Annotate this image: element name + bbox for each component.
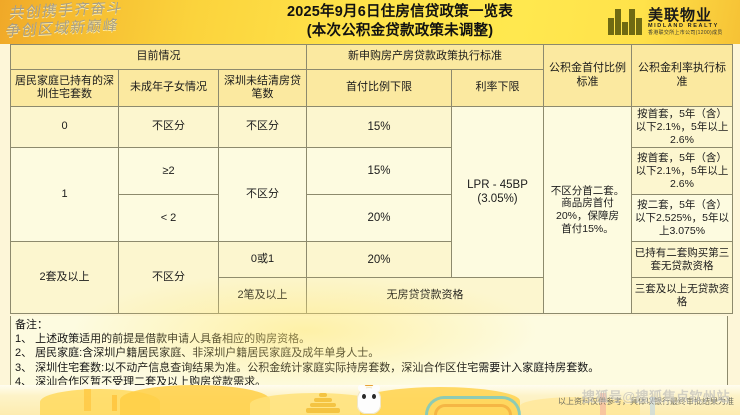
- cell-fund-rate-3: 已持有二套购买第三套无贷款资格: [632, 242, 733, 278]
- header-rate-min: 利率下限: [452, 70, 544, 107]
- logo-name-en: MIDLAND REALTY: [648, 24, 723, 30]
- pagoda-icon: [300, 393, 346, 413]
- title-line-2: (本次公积金贷款政策未调整): [190, 22, 610, 41]
- page-title: 2025年9月6日住房信贷政策一览表 (本次公积金贷款政策未调整): [190, 3, 610, 41]
- header-new-mortgage-policy: 新申购房产房贷款政策执行标准: [307, 45, 544, 70]
- tower-icon: [112, 395, 117, 411]
- header-minor-children: 未成年子女情况: [119, 70, 219, 107]
- logo-mark-icon: [608, 9, 644, 35]
- table-row: 0 不区分 不区分 15% LPR - 45BP (3.05%) 不区分首二套。…: [11, 107, 733, 148]
- cell-houses-owned-1: 1: [11, 148, 119, 242]
- note-item-3: 3、 深圳住宅套数:以不动产信息查询结果为准。公积金统计家庭实际持房套数，深汕合…: [15, 361, 723, 375]
- cell-houses-owned-3: 2套及以上: [11, 242, 119, 314]
- cell-fund-rate-1: 按首套，5年（含）以下2.1%，5年以上2.6%: [632, 148, 733, 195]
- rate-min-line-1: LPR - 45BP: [454, 178, 541, 192]
- cell-houses-owned-0: 0: [11, 107, 119, 148]
- rainbow-arch-icon: [425, 396, 521, 415]
- cell-down-payment-3: 20%: [307, 242, 452, 278]
- midland-realty-logo: 美联物业 MIDLAND REALTY 香港联交所上市公司(1200)成员: [608, 2, 736, 42]
- cell-unsettled-loans-4: 2笔及以上: [219, 278, 307, 314]
- calligraphy-line-2: 争创区域新巅峰: [6, 19, 120, 40]
- cell-minor-children-3: 不区分: [119, 242, 219, 314]
- header-unsettled-loans: 深圳未结清房贷笔数: [219, 70, 307, 107]
- cell-unsettled-loans-3: 0或1: [219, 242, 307, 278]
- cell-rate-min-merged: LPR - 45BP (3.05%): [452, 107, 544, 278]
- tower-icon: [84, 389, 91, 411]
- notes-title: 备注：: [15, 318, 723, 332]
- mascot-eye: [362, 394, 366, 399]
- note-item-2: 2、 居民家庭:含深圳户籍居民家庭、非深圳户籍居民家庭及成年单身人士。: [15, 346, 723, 360]
- fund-dp-line-2: 商品房首付: [546, 197, 629, 210]
- cell-no-loan-eligibility: 无房贷贷款资格: [307, 278, 544, 314]
- logo-name-cn: 美联物业: [648, 8, 723, 24]
- title-line-1: 2025年9月6日住房信贷政策一览表: [190, 3, 610, 22]
- cell-minor-children-1: ≥2: [119, 148, 219, 195]
- fund-dp-line-4: 首付15%。: [546, 223, 629, 236]
- logo-subtitle: 香港联交所上市公司(1200)成员: [648, 31, 723, 36]
- mascot-eye: [372, 394, 376, 399]
- cell-fund-rate-4: 三套及以上无贷款资格: [632, 278, 733, 314]
- cell-fund-rate-2: 按二套，5年（含）以下2.525%，5年以上3.075%: [632, 195, 733, 242]
- header-fund-rate: 公积金利率执行标准: [632, 45, 733, 107]
- cell-down-payment-2: 20%: [307, 195, 452, 242]
- watermark-text: 搜狐号@搜狐焦点钦州站: [582, 386, 730, 405]
- mascot-icon: [357, 387, 381, 414]
- cell-minor-children-2: < 2: [119, 195, 219, 242]
- fund-dp-line-3: 20%，保障房: [546, 210, 629, 223]
- cell-unsettled-loans-0: 不区分: [219, 107, 307, 148]
- notes-section: 备注： 1、 上述政策适用的前提是借款申请人具备相应的购房资格。 2、 居民家庭…: [10, 316, 728, 388]
- table-group-header-row: 目前情况 新申购房产房贷款政策执行标准 公积金首付比例标准 公积金利率执行标准: [11, 45, 733, 70]
- cell-minor-children-0: 不区分: [119, 107, 219, 148]
- cell-fund-rate-0: 按首套，5年（含）以下2.1%，5年以上2.6%: [632, 107, 733, 148]
- header-houses-owned: 居民家庭已持有的深圳住宅套数: [11, 70, 119, 107]
- fund-dp-line-1: 不区分首二套。: [546, 185, 629, 198]
- header-current-situation: 目前情况: [11, 45, 307, 70]
- policy-infographic: 共创携手齐奋斗 争创区域新巅峰 2025年9月6日住房信贷政策一览表 (本次公积…: [0, 0, 740, 415]
- policy-table: 目前情况 新申购房产房贷款政策执行标准 公积金首付比例标准 公积金利率执行标准 …: [10, 44, 733, 314]
- cell-down-payment-1: 15%: [307, 148, 452, 195]
- hill-shape: [120, 385, 270, 415]
- rate-min-line-2: (3.05%): [454, 192, 541, 206]
- header-fund-down-payment: 公积金首付比例标准: [544, 45, 632, 107]
- calligraphy-slogan: 共创携手齐奋斗 争创区域新巅峰: [6, 2, 186, 44]
- cell-down-payment-0: 15%: [307, 107, 452, 148]
- header-down-payment-min: 首付比例下限: [307, 70, 452, 107]
- mascot-ear: [358, 385, 366, 392]
- header-banner: 共创携手齐奋斗 争创区域新巅峰 2025年9月6日住房信贷政策一览表 (本次公积…: [0, 0, 740, 44]
- note-item-1: 1、 上述政策适用的前提是借款申请人具备相应的购房资格。: [15, 332, 723, 346]
- logo-text: 美联物业 MIDLAND REALTY 香港联交所上市公司(1200)成员: [648, 8, 723, 36]
- cell-unsettled-loans-1: 不区分: [219, 148, 307, 242]
- cell-fund-down-payment-merged: 不区分首二套。 商品房首付 20%，保障房 首付15%。: [544, 107, 632, 314]
